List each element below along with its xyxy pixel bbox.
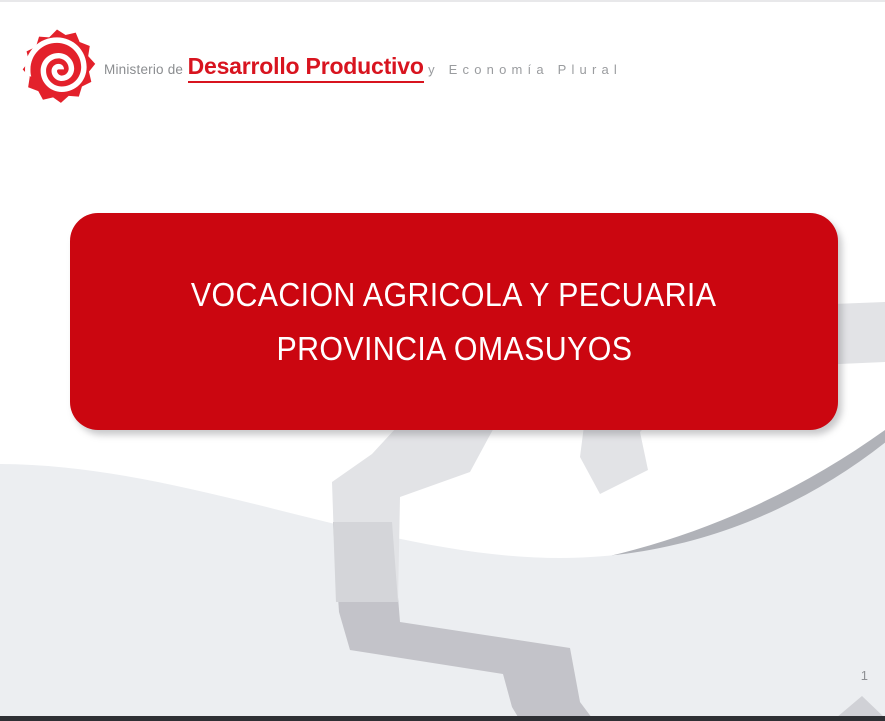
ribbon-chevron [830,696,885,721]
gear-spiral-icon [18,28,96,106]
band-mid [0,382,885,721]
slide-title-line-2: PROVINCIA OMASUYOS [276,322,632,375]
presentation-slide: Ministerio de Desarrollo Productivo y Ec… [0,0,885,721]
slide-title-line-1: VOCACION AGRICOLA Y PECUARIA [191,268,716,321]
ribbon-dark [333,522,610,721]
logo-line-ministerio: Ministerio de [104,62,183,77]
logo-line-economia: y Economía Plural [428,62,622,77]
ministry-logo: Ministerio de Desarrollo Productivo y Ec… [18,28,622,106]
slide-title-plate: VOCACION AGRICOLA Y PECUARIA PROVINCIA O… [70,213,838,430]
page-number: 1 [861,668,868,683]
logo-line-desarrollo: Desarrollo Productivo [188,53,424,82]
ribbon-overlap [333,522,398,602]
logo-wordmark: Ministerio de Desarrollo Productivo y Ec… [104,51,622,82]
